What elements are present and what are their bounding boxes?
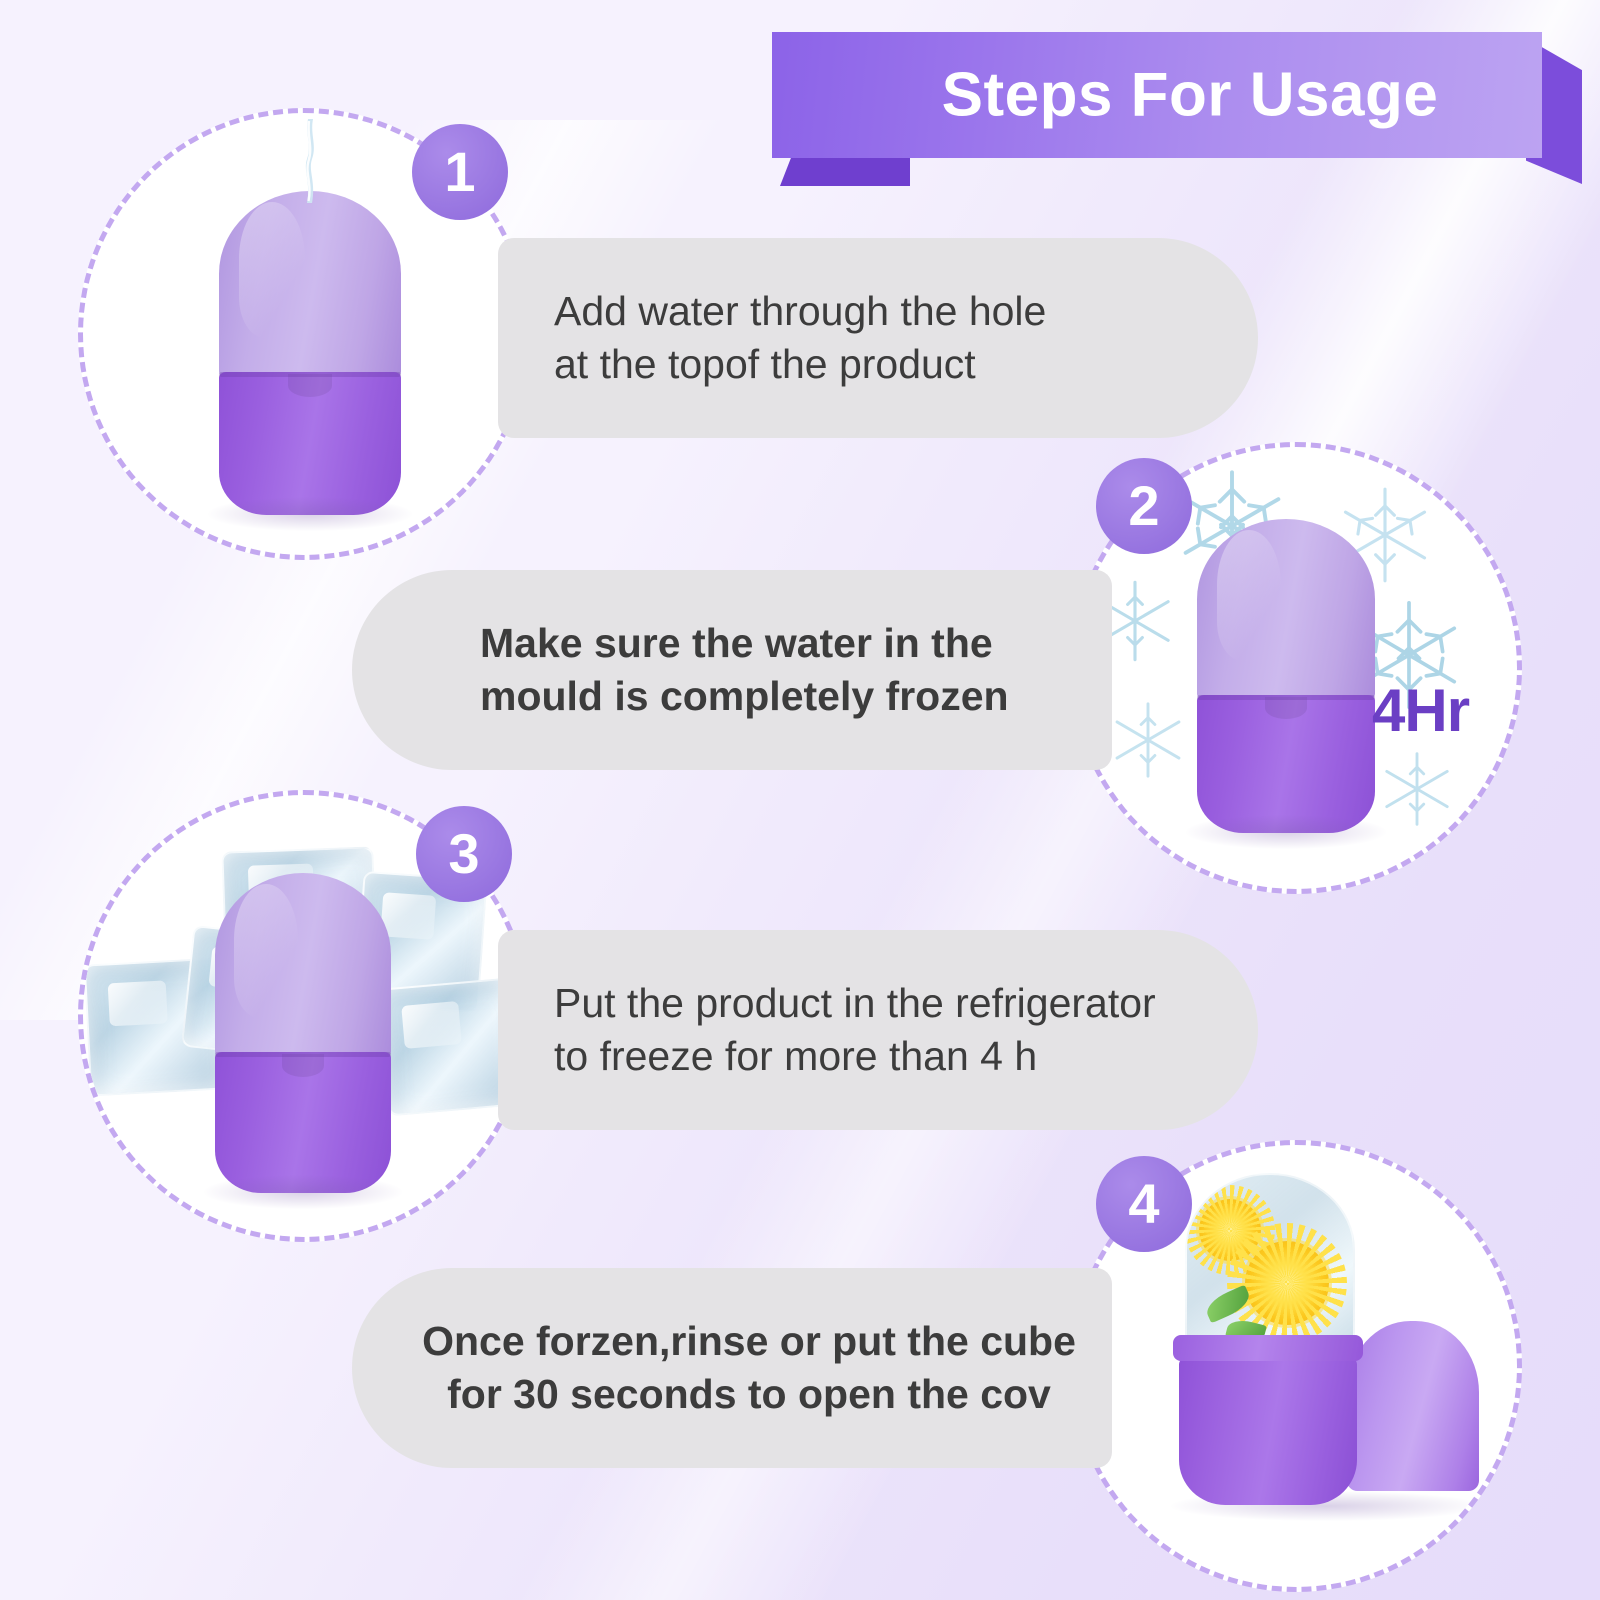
product-cap xyxy=(1197,519,1375,701)
page-title: Steps For Usage xyxy=(772,60,1542,131)
step-text-3: Put the product in the refrigerator to f… xyxy=(554,977,1156,1084)
product-seam xyxy=(219,372,401,377)
step-text-bubble-1: Add water through the hole at the topof … xyxy=(498,238,1258,438)
banner-body: Steps For Usage xyxy=(772,32,1542,158)
product-cap xyxy=(219,191,401,379)
product-ice-roller xyxy=(219,191,401,515)
product-body xyxy=(215,1052,391,1193)
product-ice-roller xyxy=(1197,519,1375,833)
infographic-canvas: Steps For Usage 1 Add water through the … xyxy=(0,0,1600,1600)
step-text-1: Add water through the hole at the topof … xyxy=(554,285,1046,392)
product-cap xyxy=(215,873,391,1059)
step-number-badge-3: 3 xyxy=(416,806,512,902)
water-stream-icon xyxy=(295,119,321,203)
snowflake-icon xyxy=(1105,697,1191,783)
product-shadow xyxy=(204,1175,401,1209)
step-number-badge-2: 2 xyxy=(1096,458,1192,554)
step-text-bubble-3: Put the product in the refrigerator to f… xyxy=(498,930,1258,1130)
title-banner: Steps For Usage xyxy=(762,28,1582,188)
product-base xyxy=(1179,1355,1357,1505)
step-text-bubble-2: Make sure the water in the mould is comp… xyxy=(352,570,1112,770)
step-text-2: Make sure the water in the mould is comp… xyxy=(480,617,1009,724)
snowflake-icon xyxy=(1375,747,1459,831)
product-lid-removed xyxy=(1347,1321,1479,1491)
step-text-4: Once forzen,rinse or put the cube for 30… xyxy=(422,1315,1076,1422)
step-text-bubble-4: Once forzen,rinse or put the cube for 30… xyxy=(352,1268,1112,1468)
product-seam xyxy=(1197,695,1375,700)
product-ice-roller xyxy=(215,873,391,1193)
product-shadow xyxy=(208,497,412,531)
dandelion-flower xyxy=(1245,1241,1329,1325)
product-seam xyxy=(215,1052,391,1057)
step-number-badge-4: 4 xyxy=(1096,1156,1192,1252)
product-body xyxy=(219,372,401,515)
product-body xyxy=(1197,695,1375,833)
freeze-time-annotation: 4Hr xyxy=(1372,676,1469,745)
product-shadow xyxy=(1186,815,1385,849)
step-number-badge-1: 1 xyxy=(412,124,508,220)
product-rim xyxy=(1173,1335,1363,1361)
